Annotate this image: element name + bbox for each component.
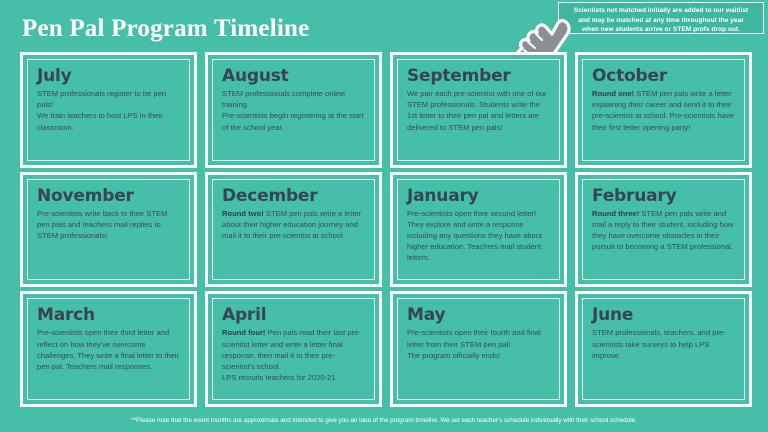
month-description: STEM professionals complete online train… (222, 88, 365, 133)
month-description: Pre-scientists write back to their STEM … (37, 208, 180, 242)
month-card-february[interactable]: February Round three! STEM pen pals writ… (575, 172, 752, 288)
month-description: Round four! Pen pals read their last pre… (222, 327, 365, 383)
round-label: Round four! (222, 328, 265, 337)
month-name: September (407, 66, 550, 86)
month-description: STEM professionals register to be pen pa… (37, 88, 180, 133)
month-card-inner: April Round four! Pen pals read their la… (212, 298, 375, 400)
month-card-inner: February Round three! STEM pen pals writ… (582, 179, 745, 281)
month-name: April (222, 305, 365, 325)
pen-pal-timeline-slide: Pen Pal Program Timeline Scientists not … (0, 0, 768, 432)
month-name: March (37, 305, 180, 325)
month-name: July (37, 66, 180, 86)
month-description: STEM professionals, teachers, and pre-sc… (592, 327, 735, 361)
month-card-october[interactable]: October Round one! STEM pen pals write a… (575, 52, 752, 168)
callout-line: and may be matched at any time throughou… (564, 16, 758, 26)
month-description: Pre-scientists open their fourth and fin… (407, 327, 550, 361)
month-card-inner: October Round one! STEM pen pals write a… (582, 59, 745, 161)
month-card-august[interactable]: August STEM professionals complete onlin… (205, 52, 382, 168)
month-name: May (407, 305, 550, 325)
month-card-inner: June STEM professionals, teachers, and p… (582, 298, 745, 400)
month-card-june[interactable]: June STEM professionals, teachers, and p… (575, 291, 752, 407)
round-label: Round one! (592, 89, 634, 98)
month-card-inner: December Round two! STEM pen pals write … (212, 179, 375, 281)
month-description: Round three! STEM pen pals write and mai… (592, 208, 735, 253)
month-name: June (592, 305, 735, 325)
month-name: October (592, 66, 735, 86)
month-card-inner: August STEM professionals complete onlin… (212, 59, 375, 161)
month-name: February (592, 186, 735, 206)
month-description: Pre-scientists open their second letter!… (407, 208, 550, 264)
month-card-inner: July STEM professionals register to be p… (27, 59, 190, 161)
month-name: August (222, 66, 365, 86)
footnote: **Please note that the event months are … (0, 416, 768, 425)
month-card-inner: May Pre-scientists open their fourth and… (397, 298, 560, 400)
month-card-april[interactable]: April Round four! Pen pals read their la… (205, 291, 382, 407)
month-description: Pre-scientists open their third letter a… (37, 327, 180, 372)
callout-line: when new students arrive or STEM profs d… (564, 25, 758, 35)
callout-line: Scientists not matched initially are add… (564, 6, 758, 16)
month-name: November (37, 186, 180, 206)
page-title: Pen Pal Program Timeline (22, 14, 309, 44)
month-description: We pair each pre-scientist with one of o… (407, 88, 550, 133)
month-card-july[interactable]: July STEM professionals register to be p… (20, 52, 197, 168)
month-card-november[interactable]: November Pre-scientists write back to th… (20, 172, 197, 288)
timeline-grid: July STEM professionals register to be p… (20, 52, 752, 407)
month-card-inner: September We pair each pre-scientist wit… (397, 59, 560, 161)
month-card-inner: November Pre-scientists write back to th… (27, 179, 190, 281)
month-card-december[interactable]: December Round two! STEM pen pals write … (205, 172, 382, 288)
round-label: Round two! (222, 209, 264, 218)
month-card-inner: March Pre-scientists open their third le… (27, 298, 190, 400)
waitlist-callout-text: Scientists not matched initially are add… (564, 6, 758, 35)
month-card-march[interactable]: March Pre-scientists open their third le… (20, 291, 197, 407)
month-description: Round two! STEM pen pals write a letter … (222, 208, 365, 242)
month-name: December (222, 186, 365, 206)
month-card-inner: January Pre-scientists open their second… (397, 179, 560, 281)
month-card-september[interactable]: September We pair each pre-scientist wit… (390, 52, 567, 168)
month-card-january[interactable]: January Pre-scientists open their second… (390, 172, 567, 288)
waitlist-callout: Scientists not matched initially are add… (558, 2, 764, 34)
month-name: January (407, 186, 550, 206)
month-card-may[interactable]: May Pre-scientists open their fourth and… (390, 291, 567, 407)
month-description: Round one! STEM pen pals write a letter … (592, 88, 735, 133)
round-label: Round three! (592, 209, 639, 218)
